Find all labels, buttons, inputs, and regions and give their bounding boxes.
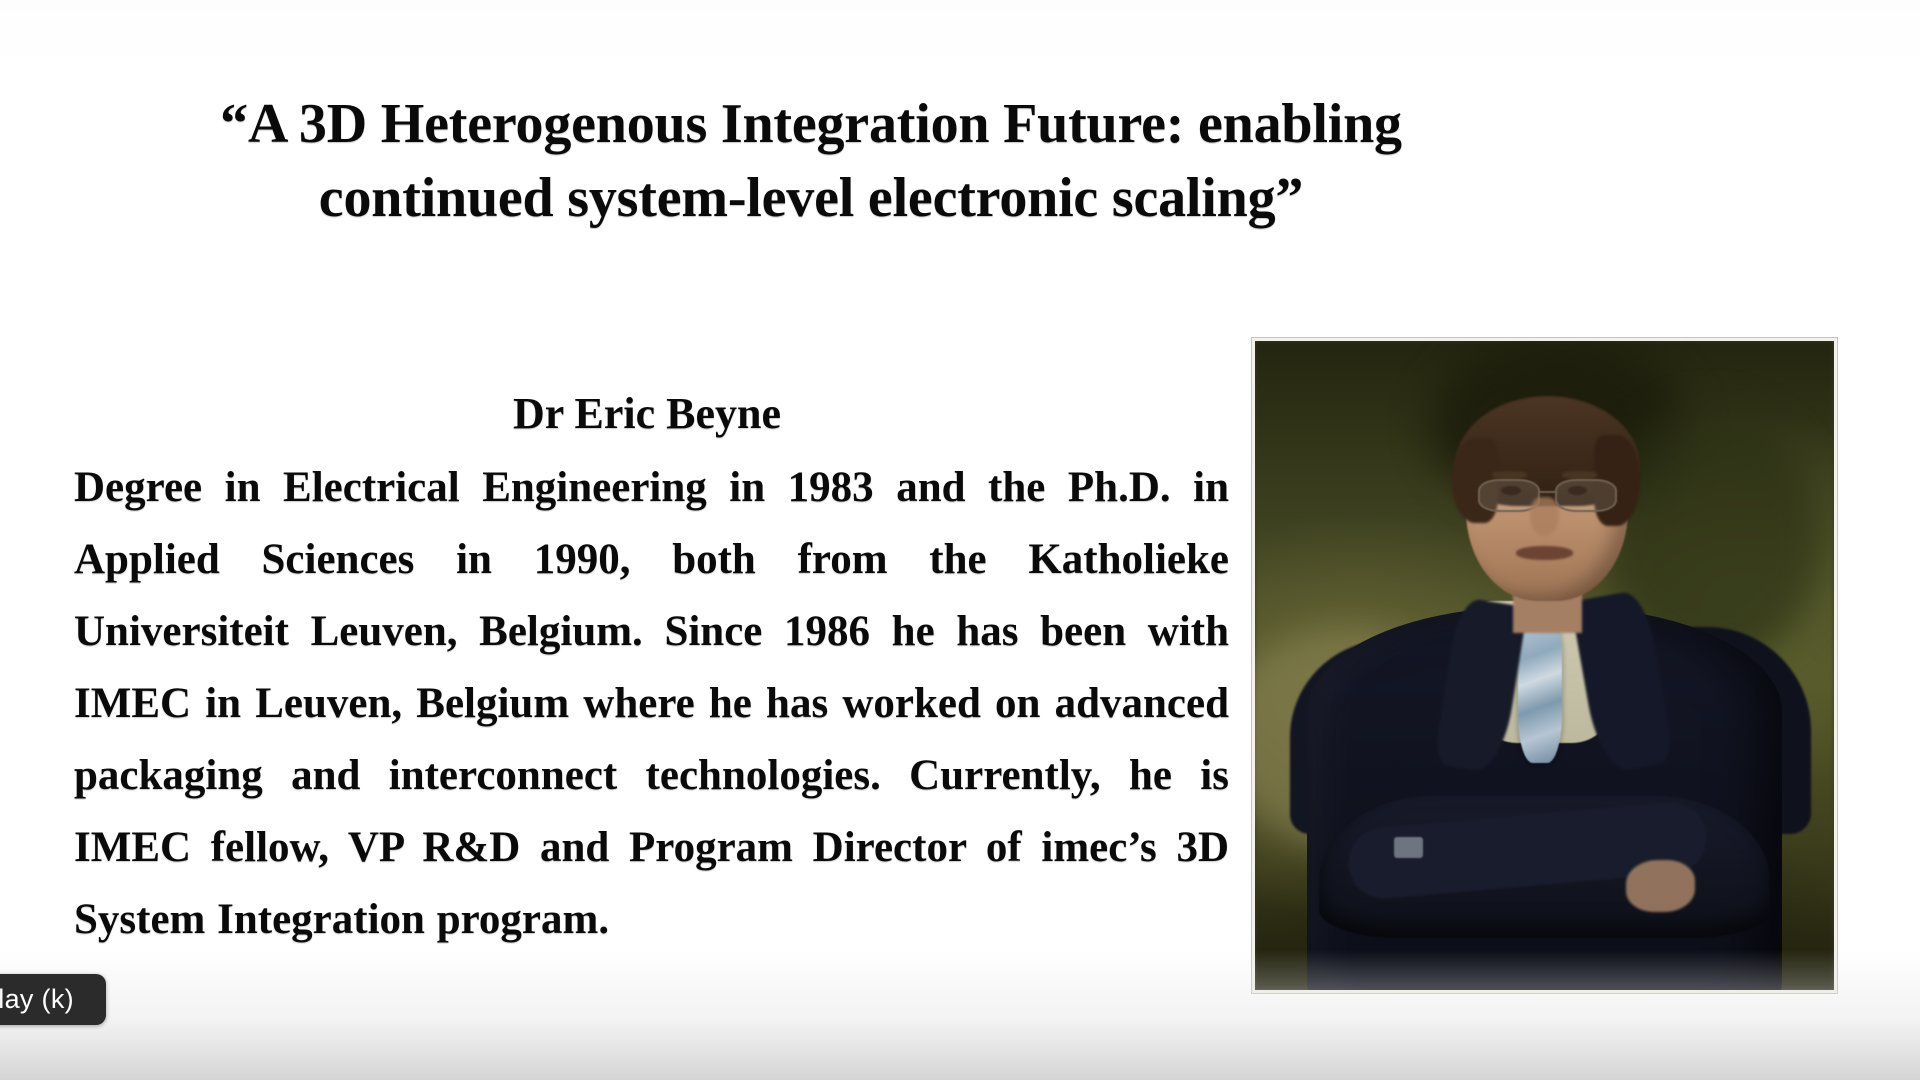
eyebrow-right (1562, 471, 1597, 478)
speaker-portrait-frame (1252, 338, 1837, 993)
eyeglass-bridge (1539, 491, 1556, 493)
eyebrow-left (1492, 471, 1527, 478)
speaker-name: Dr Eric Beyne (72, 390, 1222, 438)
eyeglass-lens-right (1555, 479, 1617, 513)
wristwatch (1394, 837, 1423, 858)
speaker-bio: Degree in Electrical Engineering in 1983… (74, 452, 1229, 956)
presentation-slide: “A 3D Heterogenous Integration Future: e… (0, 0, 1920, 1080)
nose (1530, 497, 1559, 536)
mouth (1516, 546, 1574, 560)
hand (1626, 860, 1695, 912)
necktie (1518, 620, 1561, 763)
speaker-bio-paragraph: Degree in Electrical Engineering in 1983… (74, 452, 1229, 956)
top-sheen-overlay (0, 0, 1920, 70)
portrait-figure (1255, 341, 1834, 990)
speaker-portrait-photo (1255, 341, 1834, 990)
page-title: “A 3D Heterogenous Integration Future: e… (96, 88, 1526, 236)
player-play-tooltip: Play (k) (0, 974, 106, 1025)
